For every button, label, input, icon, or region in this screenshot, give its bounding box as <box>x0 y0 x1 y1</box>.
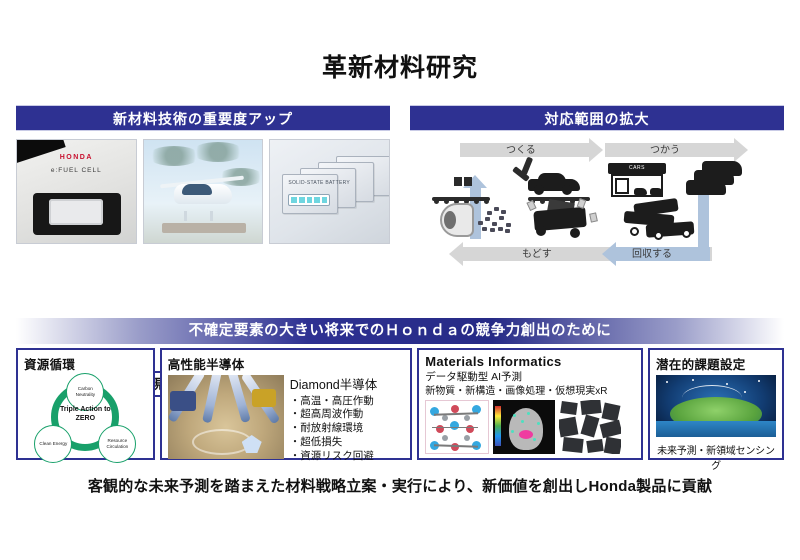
semiconductor-photo <box>168 375 284 459</box>
dismantling-icon <box>526 199 600 239</box>
list-item: ・資源リスク回避 <box>290 450 378 464</box>
list-item: ・高温・高圧作動 <box>290 395 378 409</box>
evtol-photo <box>143 139 264 244</box>
hotspot-shape <box>519 430 533 439</box>
page-title: 革新材料研究 <box>0 48 800 84</box>
photo-strip: HONDA e:FUEL CELL SOLID-STAT <box>16 139 390 244</box>
battery-gauge-icon <box>288 194 330 206</box>
panel-title-semiconductor: 高性能半導体 <box>168 354 405 373</box>
left-section: 新材料技術の重要度アップ HONDA e:FUEL CELL <box>16 105 390 244</box>
fuel-cell-unit-shape <box>33 193 121 235</box>
node-resource-circulation: Resource Circulation <box>98 425 136 463</box>
battery-label: SOLID-STATE BATTERY <box>288 180 350 187</box>
shredded-chips-icon <box>476 207 524 237</box>
panel-materials-informatics: Materials Informatics データ駆動型 AI予測 新物質・新構… <box>417 348 643 460</box>
future-vision-image <box>656 375 776 437</box>
probe-shape <box>202 375 223 423</box>
simulation-heatmap-image <box>493 400 555 454</box>
panel-title-resource-circulation: 資源循環 <box>24 354 147 373</box>
circular-economy-diagram: つくる つかう もどす 回収する <box>410 139 784 264</box>
scrap-car-pile-icon <box>624 201 698 239</box>
honda-wordmark: HONDA <box>17 154 136 161</box>
equipment-block-shape <box>170 391 196 411</box>
potential-issue-caption: 未来予測・新領域センシング <box>656 442 776 472</box>
porous-structure-image <box>559 400 621 454</box>
node-clean-energy: Clean Energy <box>34 425 72 463</box>
fuel-cell-photo: HONDA e:FUEL CELL <box>16 139 137 244</box>
rotor-icon <box>192 142 244 162</box>
panel-resource-circulation: 資源循環 Carbon Neutrality Clean Energy Reso… <box>16 348 155 460</box>
panel-title-potential-issue: 潜在的課題設定 <box>656 354 776 373</box>
panel-title-materials-informatics: Materials Informatics <box>425 354 635 369</box>
semiconductor-subtitle: Diamond半導体 <box>290 377 378 394</box>
landing-gear-shape <box>184 211 187 221</box>
mi-line-1: データ駆動型 AI予測 <box>425 371 635 385</box>
bottom-summary-line: 客観的な未来予測を踏まえた材料戦略立案・実行により、新価値を創出しHonda製品… <box>0 475 800 496</box>
dealership-icon <box>608 163 666 197</box>
right-section-header: 対応範囲の拡大 <box>410 105 784 131</box>
landing-gear-shape <box>210 211 213 221</box>
flow-label-make: つくる <box>506 141 536 156</box>
recycled-material-icon <box>440 203 474 237</box>
material-bar-icon <box>432 177 490 201</box>
slide-root: 革新材料研究 新材料技術の重要度アップ HONDA e:FUEL CELL <box>0 0 800 560</box>
panel-potential-issue-setting: 潜在的課題設定 未来予測・新領域センシング <box>648 348 784 460</box>
semiconductor-text: Diamond半導体 ・高温・高圧作動 ・超高周波作動 ・耐放射線環境 ・超低損… <box>290 375 378 464</box>
equipment-block-shape <box>252 389 276 407</box>
diagram-center-label: Triple Action to ZERO <box>56 405 114 423</box>
mi-line-2: 新物質・新構造・画像処理・仮想現実xR <box>425 385 635 398</box>
solid-state-battery-photo: SOLID-STATE BATTERY <box>269 139 390 244</box>
flow-label-return: もどす <box>522 245 552 260</box>
flow-label-collect: 回収する <box>632 245 672 260</box>
left-section-header: 新材料技術の重要度アップ <box>16 105 390 131</box>
panel-high-performance-semiconductor: 高性能半導体 Diamond半導体 ・高温・高圧作動 ・超高周波作 <box>160 348 413 460</box>
main-banner: 不確定要素の大きい将来でのＨｏｎｄａの競争力創出のために <box>16 318 784 344</box>
sea-shape <box>656 421 776 437</box>
list-item: ・超高周波作動 <box>290 408 378 422</box>
canopy-shape <box>182 184 212 195</box>
colorbar <box>495 406 501 446</box>
list-item: ・耐放射線環境 <box>290 422 378 436</box>
car-assembly-icon <box>528 173 590 201</box>
cars-in-use-icon <box>686 161 746 197</box>
panel-row: 資源循環 Carbon Neutrality Clean Energy Reso… <box>16 348 784 460</box>
helipad-shape <box>162 223 246 233</box>
crystal-lattice-image <box>425 400 489 454</box>
semiconductor-bullet-list: ・高温・高圧作動 ・超高周波作動 ・耐放射線環境 ・超低損失 ・資源リスク回避 <box>290 395 378 464</box>
list-item: ・超低損失 <box>290 436 378 450</box>
flow-label-use: つかう <box>650 141 680 156</box>
triple-action-diagram: Carbon Neutrality Clean Energy Resource … <box>26 375 144 459</box>
right-section: 対応範囲の拡大 つくる つかう もどす 回収する <box>410 105 784 264</box>
fuel-cell-caption: e:FUEL CELL <box>17 167 136 174</box>
mi-image-row <box>425 400 635 454</box>
